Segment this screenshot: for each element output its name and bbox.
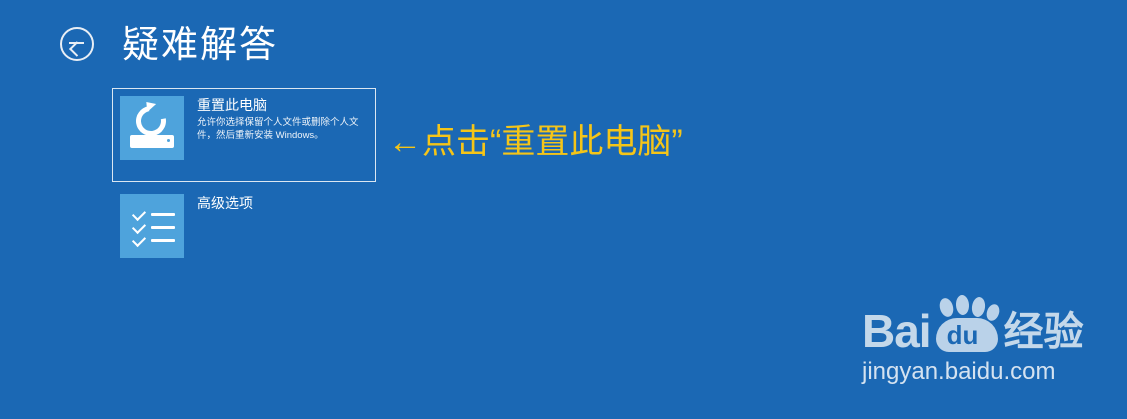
- check-mark-icon: [132, 220, 146, 234]
- check-mark-icon: [132, 233, 146, 247]
- baidu-jingyan-watermark: Bai du 经验 jingyan.baidu.com: [862, 296, 1102, 386]
- header: 疑难解答: [60, 18, 278, 70]
- baidu-logo-bai: Bai: [862, 308, 931, 354]
- baidu-logo-jingyan: 经验: [1004, 310, 1084, 354]
- checklist-icon: [120, 194, 184, 258]
- tile-advanced-options[interactable]: 高级选项: [112, 186, 376, 266]
- pc-base-shape: [130, 135, 174, 148]
- reset-pc-icon: [120, 96, 184, 160]
- tile-advanced-title: 高级选项: [197, 195, 253, 212]
- baidu-logo-du: du: [947, 322, 979, 348]
- tile-advanced-text: 高级选项: [197, 194, 253, 212]
- tile-reset-text: 重置此电脑 允许你选择保留个人文件或删除个人文件，然后重新安装 Windows。: [197, 96, 368, 142]
- checklist-line: [151, 226, 175, 229]
- tile-reset-description: 允许你选择保留个人文件或删除个人文件，然后重新安装 Windows。: [197, 117, 368, 142]
- check-mark-icon: [132, 207, 146, 221]
- checklist-line: [151, 239, 175, 242]
- baidu-logo: Bai du 经验: [862, 296, 1102, 354]
- checklist-line: [151, 213, 175, 216]
- paw-toe-2: [955, 295, 969, 316]
- windows-recovery-screen: 疑难解答 重置此电脑 允许你选择保留个人文件或删除个人文件，然后重新安装 Win…: [0, 0, 1127, 419]
- paw-toe-3: [970, 296, 986, 318]
- annotation-callout: ←点击“重置此电脑”: [388, 122, 683, 162]
- baidu-paw-icon: du: [930, 296, 1002, 354]
- tile-reset-title: 重置此电脑: [197, 97, 368, 114]
- paw-toe-1: [937, 297, 955, 319]
- tile-reset-this-pc[interactable]: 重置此电脑 允许你选择保留个人文件或删除个人文件，然后重新安装 Windows。: [112, 88, 376, 182]
- watermark-url: jingyan.baidu.com: [862, 358, 1102, 386]
- back-arrow-circle-icon[interactable]: [60, 27, 94, 61]
- page-title: 疑难解答: [122, 26, 278, 63]
